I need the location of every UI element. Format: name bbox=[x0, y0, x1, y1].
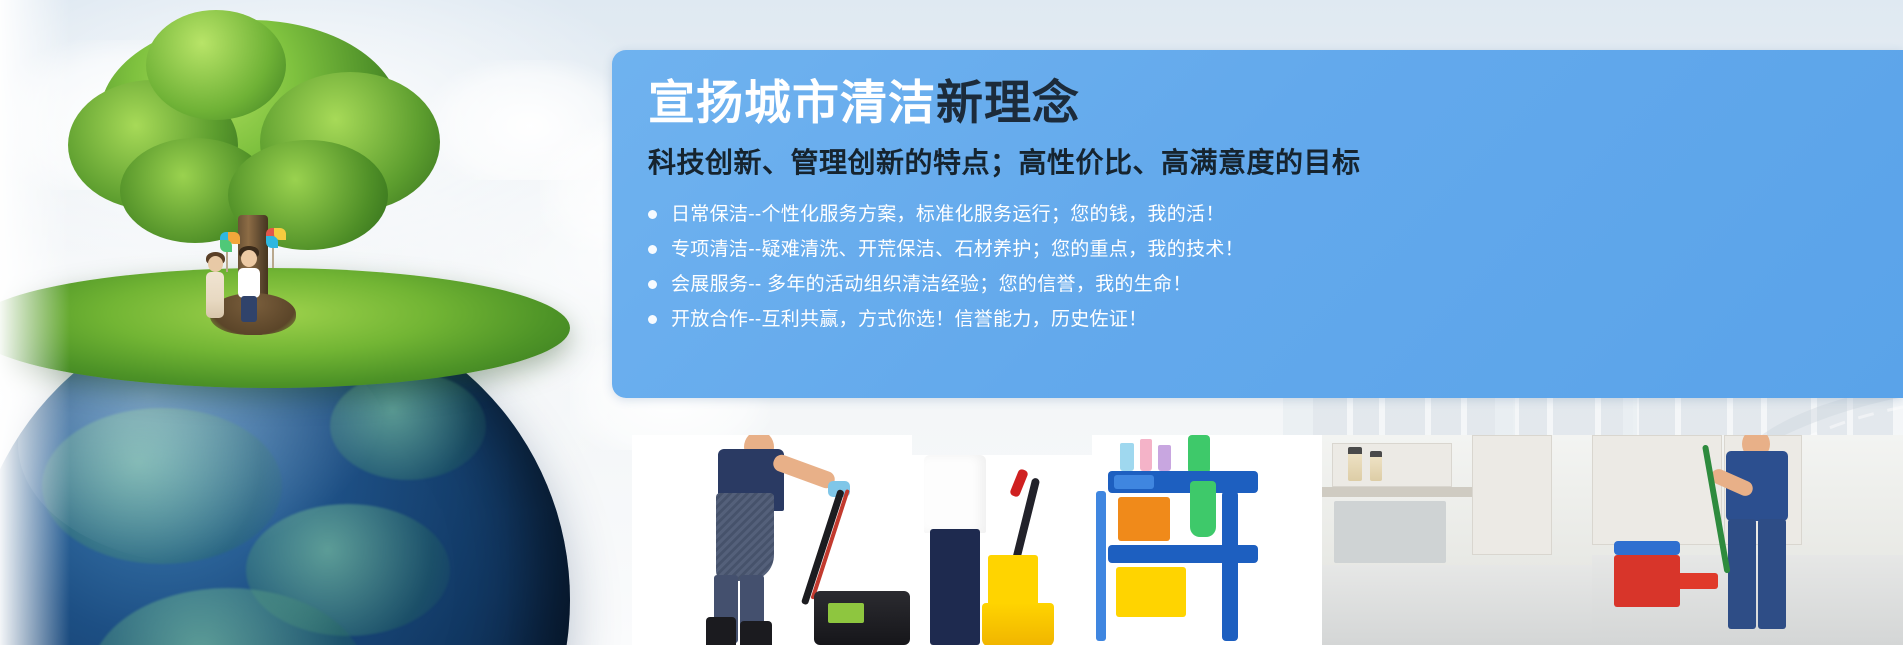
bullet-dot-icon bbox=[648, 245, 657, 254]
list-item: 专项清洁--疑难清洗、开荒保洁、石材养护；您的重点，我的技术！ bbox=[648, 240, 1903, 259]
page-title: 宣扬城市清洁新理念 bbox=[648, 78, 1903, 129]
list-item-label: 开放合作--互利共赢，方式你选！信誉能力，历史佐证！ bbox=[671, 310, 1147, 329]
message-panel: 宣扬城市清洁新理念 科技创新、管理创新的特点；高性价比、高满意度的目标 日常保洁… bbox=[612, 50, 1903, 398]
list-item: 日常保洁--个性化服务方案，标准化服务运行；您的钱，我的活！ bbox=[648, 205, 1903, 224]
headline-light-text: 宣扬城市清洁 bbox=[648, 76, 936, 129]
list-item-label: 会展服务-- 多年的活动组织清洁经验；您的信誉，我的生命！ bbox=[671, 275, 1192, 294]
left-fade-overlay bbox=[0, 0, 70, 645]
earth-tree-artwork bbox=[0, 0, 610, 645]
feature-list: 日常保洁--个性化服务方案，标准化服务运行；您的钱，我的活！ 专项清洁--疑难清… bbox=[648, 205, 1903, 329]
bullet-dot-icon bbox=[648, 315, 657, 324]
list-item-label: 专项清洁--疑难清洗、开荒保洁、石材养护；您的重点，我的技术！ bbox=[671, 240, 1244, 259]
photo-kitchen-interior bbox=[1322, 435, 1602, 645]
photo-strip bbox=[632, 435, 1903, 645]
photo-mopping-worker bbox=[1592, 435, 1903, 645]
photo-cleaning-supply-cart bbox=[1092, 435, 1332, 645]
promotional-banner: 宣扬城市清洁新理念 科技创新、管理创新的特点；高性价比、高满意度的目标 日常保洁… bbox=[0, 0, 1903, 645]
green-tree-illustration bbox=[60, 10, 460, 350]
photo-mop-bucket-wringer bbox=[910, 455, 1110, 645]
photo-floor-machine-worker bbox=[632, 435, 912, 645]
bullet-dot-icon bbox=[648, 210, 657, 219]
list-item: 开放合作--互利共赢，方式你选！信誉能力，历史佐证！ bbox=[648, 310, 1903, 329]
list-item-label: 日常保洁--个性化服务方案，标准化服务运行；您的钱，我的活！ bbox=[671, 205, 1225, 224]
headline-dark-text: 新理念 bbox=[936, 76, 1080, 129]
bullet-dot-icon bbox=[648, 280, 657, 289]
subtitle: 科技创新、管理创新的特点；高性价比、高满意度的目标 bbox=[648, 141, 1903, 181]
list-item: 会展服务-- 多年的活动组织清洁经验；您的信誉，我的生命！ bbox=[648, 275, 1903, 294]
